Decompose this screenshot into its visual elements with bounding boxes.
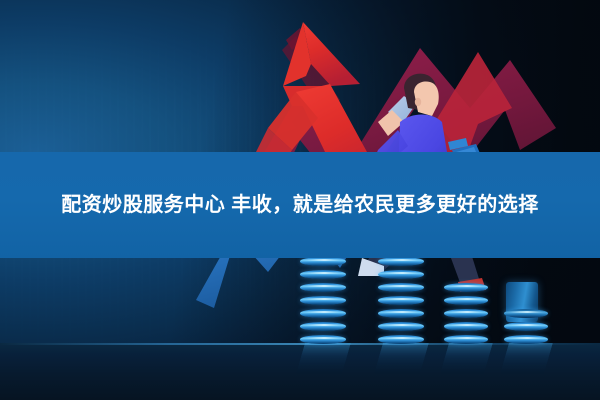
coin [300,283,346,292]
coin [300,309,346,318]
coin [444,283,488,292]
coin [444,322,488,331]
headline-banner: 配资炒股服务中心 丰收，就是给农民更多更好的选择 [0,152,600,258]
coin [378,257,424,266]
coin [444,296,488,305]
headline-text: 配资炒股服务中心 丰收，就是给农民更多更好的选择 [14,188,586,222]
coin-stack-4 [504,309,548,344]
coin [378,283,424,292]
coin [300,335,346,344]
coin [300,257,346,266]
coin-shadow [373,343,429,377]
coin [378,322,424,331]
coin [444,335,488,344]
coin [504,322,548,331]
coin [444,309,488,318]
coin [504,309,548,318]
coin [300,322,346,331]
coin [300,270,346,279]
coin [300,296,346,305]
coin [378,270,424,279]
banner-image: 配资炒股服务中心 丰收，就是给农民更多更好的选择 [0,0,600,400]
coin [504,335,548,344]
coin-stack-3 [444,283,488,344]
coin [378,335,424,344]
coin-shadow [295,343,351,377]
coin [378,296,424,305]
coin [378,309,424,318]
